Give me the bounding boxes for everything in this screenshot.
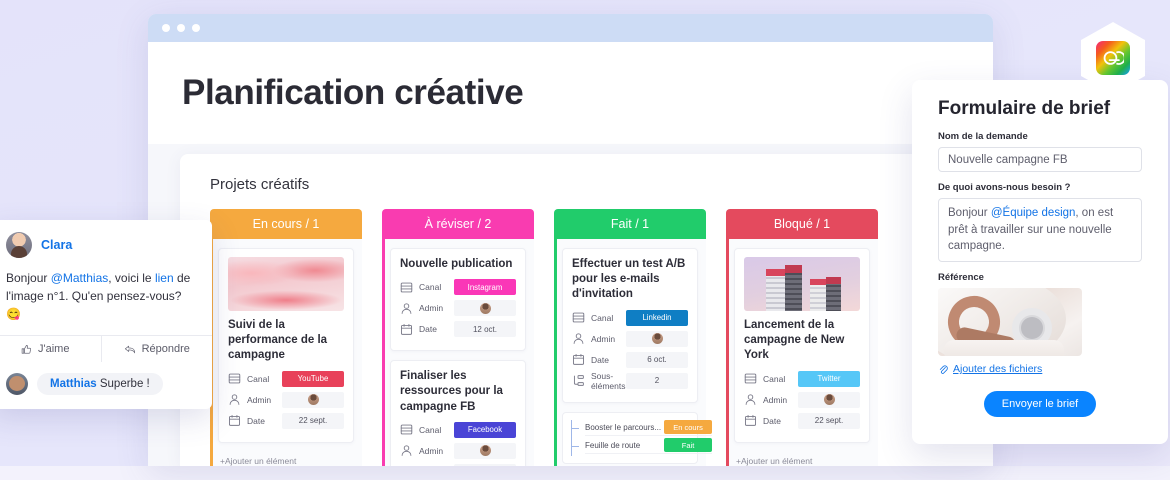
task-field-label: Date: [591, 355, 626, 365]
task-title: Lancement de la campagne de New York: [744, 318, 860, 364]
task-field-avatar[interactable]: [454, 443, 516, 459]
task-field-label: Date: [247, 416, 282, 426]
column-accent-bar: [382, 239, 385, 466]
person-icon: [572, 332, 585, 345]
person-icon: [228, 393, 241, 406]
task-field-value[interactable]: 28 sept.: [454, 464, 516, 466]
task-card[interactable]: Finaliser les ressources pour la campagn…: [390, 360, 526, 466]
column-body-fait: Effectuer un test A/B pour les e-mails d…: [554, 239, 706, 466]
task-field-row: Date12 oct.: [400, 320, 516, 338]
subitem-status[interactable]: Fait: [664, 438, 712, 452]
column-body-a-reviser: Nouvelle publicationCanalInstagramAdminD…: [382, 239, 534, 466]
column-header-bloque[interactable]: Bloqué / 1: [726, 209, 878, 239]
task-field-row: Sous-éléments2: [572, 372, 688, 390]
comment-mention[interactable]: @Matthias: [51, 271, 109, 285]
subitems-icon: [572, 374, 586, 387]
task-field-label: Canal: [419, 425, 454, 435]
task-field-value[interactable]: 12 oct.: [454, 321, 516, 337]
person-icon: [744, 393, 758, 406]
column-body-bloque: Lancement de la campagne de New YorkCana…: [726, 239, 878, 466]
calendar-icon: [400, 323, 413, 336]
comment-emoji: 😋: [6, 307, 21, 321]
task-field-row: CanalFacebook: [400, 421, 516, 439]
comment-actions: J'aime Répondre: [0, 335, 212, 362]
task-field-value[interactable]: 22 sept.: [282, 413, 344, 429]
task-field-value[interactable]: 22 sept.: [798, 413, 860, 429]
avatar-matthias: [6, 373, 28, 395]
task-title: Suivi de la performance de la campagne: [228, 318, 344, 364]
comment-popup: Clara Bonjour @Matthias, voici le lien d…: [0, 220, 212, 409]
request-name-label: Nom de la demande: [938, 131, 1142, 142]
task-title: Finaliser les ressources pour la campagn…: [400, 369, 516, 415]
board-icon: [744, 372, 758, 385]
task-field-avatar[interactable]: [626, 331, 688, 347]
task-field-value[interactable]: 2: [626, 373, 688, 389]
task-field-row: CanalTwitter: [744, 370, 860, 388]
task-title: Effectuer un test A/B pour les e-mails d…: [572, 257, 688, 303]
task-field-value[interactable]: Linkedin: [626, 310, 688, 326]
board-icon: [400, 423, 414, 436]
calendar-icon: [744, 414, 758, 427]
thumbs-up-icon: [21, 344, 32, 355]
column-body-en-cours: Suivi de la performance de la campagneCa…: [210, 239, 362, 466]
browser-window: Planification créative Projets créatifs …: [148, 14, 993, 466]
board-icon: [400, 281, 413, 294]
comment-body: Bonjour @Matthias, voici le lien de l'im…: [0, 258, 212, 335]
task-field-label: Date: [419, 324, 454, 334]
task-field-value[interactable]: YouTube: [282, 371, 344, 387]
browser-titlebar: [148, 14, 993, 42]
reference-label: Référence: [938, 272, 1142, 283]
adobe-creative-cloud-logo: [1096, 41, 1130, 75]
hexagon-shape: [1081, 22, 1145, 94]
task-field-row: Date6 oct.: [572, 351, 688, 369]
task-field-value[interactable]: 6 oct.: [626, 352, 688, 368]
need-textarea[interactable]: Bonjour @Équipe design, on est prêt à tr…: [938, 198, 1142, 262]
comment-header: Clara: [0, 232, 212, 258]
calendar-icon: [572, 353, 586, 366]
task-field-avatar[interactable]: [798, 392, 860, 408]
person-icon: [228, 393, 242, 406]
person-icon: [572, 332, 586, 345]
calendar-icon: [228, 414, 242, 427]
task-card[interactable]: Effectuer un test A/B pour les e-mails d…: [562, 248, 698, 403]
task-field-row: Admin: [400, 442, 516, 460]
calendar-icon: [400, 465, 414, 466]
attach-files-link[interactable]: Ajouter des fichiers: [953, 363, 1042, 375]
window-maximize-dot[interactable]: [192, 24, 200, 32]
subitem-row[interactable]: Booster le parcours...En cours: [585, 420, 712, 436]
subitems-bracket: [571, 420, 580, 456]
board-columns: En cours / 1Suivi de la performance de l…: [210, 209, 993, 466]
task-thumbnail-city: [744, 257, 860, 311]
task-field-value[interactable]: Twitter: [798, 371, 860, 387]
task-card[interactable]: Lancement de la campagne de New YorkCana…: [734, 248, 870, 443]
person-icon: [400, 444, 414, 457]
task-thumbnail-abstract: [228, 257, 344, 311]
comment-text-prefix: Bonjour: [6, 271, 51, 285]
task-field-label: Canal: [763, 374, 798, 384]
board-icon: [228, 372, 241, 385]
column-header-a-reviser[interactable]: À réviser / 2: [382, 209, 534, 239]
task-field-label: Admin: [763, 395, 798, 405]
board-icon: [572, 311, 586, 324]
request-name-input[interactable]: [938, 147, 1142, 172]
task-field-row: CanalInstagram: [400, 278, 516, 296]
comment-text-mid: , voici le: [108, 271, 155, 285]
reply-button[interactable]: Répondre: [101, 336, 213, 362]
brief-form-title: Formulaire de brief: [938, 98, 1142, 120]
person-icon: [400, 444, 413, 457]
cc-glyph-icon: [1102, 50, 1124, 66]
paperclip-icon: [938, 364, 948, 375]
comment-author: Clara: [41, 238, 72, 252]
task-field-row: CanalLinkedin: [572, 309, 688, 327]
calendar-icon: [400, 465, 413, 466]
task-field-label: Canal: [247, 374, 282, 384]
board-icon: [744, 372, 757, 385]
board-icon: [400, 423, 413, 436]
task-field-row: Admin: [228, 391, 344, 409]
window-close-dot[interactable]: [162, 24, 170, 32]
board-column-bloque: Bloqué / 1 Lancement de la campagne de N…: [726, 209, 878, 466]
task-field-avatar[interactable]: [454, 300, 516, 316]
task-field-label: Canal: [419, 282, 454, 292]
like-button[interactable]: J'aime: [0, 336, 101, 362]
brief-form-panel: Formulaire de brief Nom de la demande De…: [912, 80, 1168, 444]
task-field-row: Date22 sept.: [228, 412, 344, 430]
like-label: J'aime: [38, 343, 69, 355]
column-header-en-cours[interactable]: En cours / 1: [210, 209, 362, 239]
subitem-row[interactable]: Feuille de routeFait: [585, 438, 712, 454]
subitems-card: Booster le parcours...En coursFeuille de…: [562, 412, 698, 464]
task-field-row: Date22 sept.: [744, 412, 860, 430]
task-field-value[interactable]: Facebook: [454, 422, 516, 438]
background-strip: [0, 466, 1170, 480]
reply-arrow-icon: [124, 344, 136, 355]
task-field-label: Admin: [247, 395, 282, 405]
task-field-avatar[interactable]: [282, 392, 344, 408]
need-label: De quoi avons-nous besoin ?: [938, 182, 1142, 193]
person-icon: [744, 393, 757, 406]
task-field-row: Admin: [572, 330, 688, 348]
task-card[interactable]: Suivi de la performance de la campagneCa…: [218, 248, 354, 443]
calendar-icon: [400, 323, 414, 336]
board-column-fait: Fait / 1Effectuer un test A/B pour les e…: [554, 209, 706, 466]
board-panel: Projets créatifs En cours / 1Suivi de la…: [180, 154, 993, 466]
need-mention[interactable]: @Équipe design: [991, 207, 1076, 219]
subitems-icon: [572, 374, 585, 387]
avatar-clara: [6, 232, 32, 258]
board-icon: [400, 281, 414, 294]
page-title: Planification créative: [182, 73, 523, 113]
reply-author: Matthias: [50, 378, 97, 390]
add-item-button[interactable]: +Ajouter un élément: [734, 452, 870, 466]
board-column-en-cours: En cours / 1Suivi de la performance de l…: [210, 209, 362, 466]
creative-cloud-badge: [1081, 22, 1145, 94]
board-icon: [572, 311, 585, 324]
task-field-label: Admin: [419, 446, 454, 456]
calendar-icon: [744, 414, 757, 427]
board-column-a-reviser: À réviser / 2Nouvelle publicationCanalIn…: [382, 209, 534, 466]
comment-link[interactable]: lien: [155, 271, 174, 285]
task-title: Nouvelle publication: [400, 257, 516, 272]
task-field-label: Canal: [591, 313, 626, 323]
calendar-icon: [228, 414, 241, 427]
avatar: [480, 303, 491, 314]
reply-bubble: Matthias Superbe !: [37, 373, 163, 395]
task-field-row: CanalYouTube: [228, 370, 344, 388]
person-icon: [400, 302, 414, 315]
reply-label: Répondre: [142, 343, 190, 355]
need-prefix: Bonjour: [948, 207, 991, 219]
column-accent-bar: [554, 239, 557, 466]
avatar: [652, 333, 663, 344]
task-field-label: Sous-éléments: [591, 371, 626, 391]
avatar: [824, 394, 835, 405]
column-header-fait[interactable]: Fait / 1: [554, 209, 706, 239]
task-field-row: Admin: [744, 391, 860, 409]
board-subtitle: Projets créatifs: [210, 176, 993, 193]
attach-row[interactable]: Ajouter des fichiers: [938, 363, 1142, 375]
window-minimize-dot[interactable]: [177, 24, 185, 32]
avatar: [308, 394, 319, 405]
subitem-status[interactable]: En cours: [664, 420, 712, 434]
calendar-icon: [572, 353, 585, 366]
column-accent-bar: [726, 239, 729, 466]
task-field-row: Date28 sept.: [400, 463, 516, 466]
task-field-label: Date: [763, 416, 798, 426]
reference-thumbnail-headphones[interactable]: [938, 288, 1082, 356]
subitem-name: Booster le parcours...: [585, 423, 664, 432]
person-icon: [400, 302, 413, 315]
task-field-row: Admin: [400, 299, 516, 317]
task-field-value[interactable]: Instagram: [454, 279, 516, 295]
reply-row: Matthias Superbe !: [0, 362, 212, 409]
task-field-label: Admin: [591, 334, 626, 344]
page-header: Planification créative: [148, 42, 993, 144]
subitem-name: Feuille de route: [585, 441, 664, 450]
subitems-rows: Booster le parcours...En coursFeuille de…: [585, 420, 712, 456]
avatar: [480, 445, 491, 456]
reply-text: Superbe !: [100, 378, 150, 390]
task-card[interactable]: Nouvelle publicationCanalInstagramAdminD…: [390, 248, 526, 351]
board-area: Projets créatifs En cours / 1Suivi de la…: [148, 144, 993, 466]
task-field-label: Admin: [419, 303, 454, 313]
send-brief-button[interactable]: Envoyer le brief: [984, 391, 1096, 417]
add-item-button[interactable]: +Ajouter un élément: [218, 452, 354, 466]
board-icon: [228, 372, 242, 385]
